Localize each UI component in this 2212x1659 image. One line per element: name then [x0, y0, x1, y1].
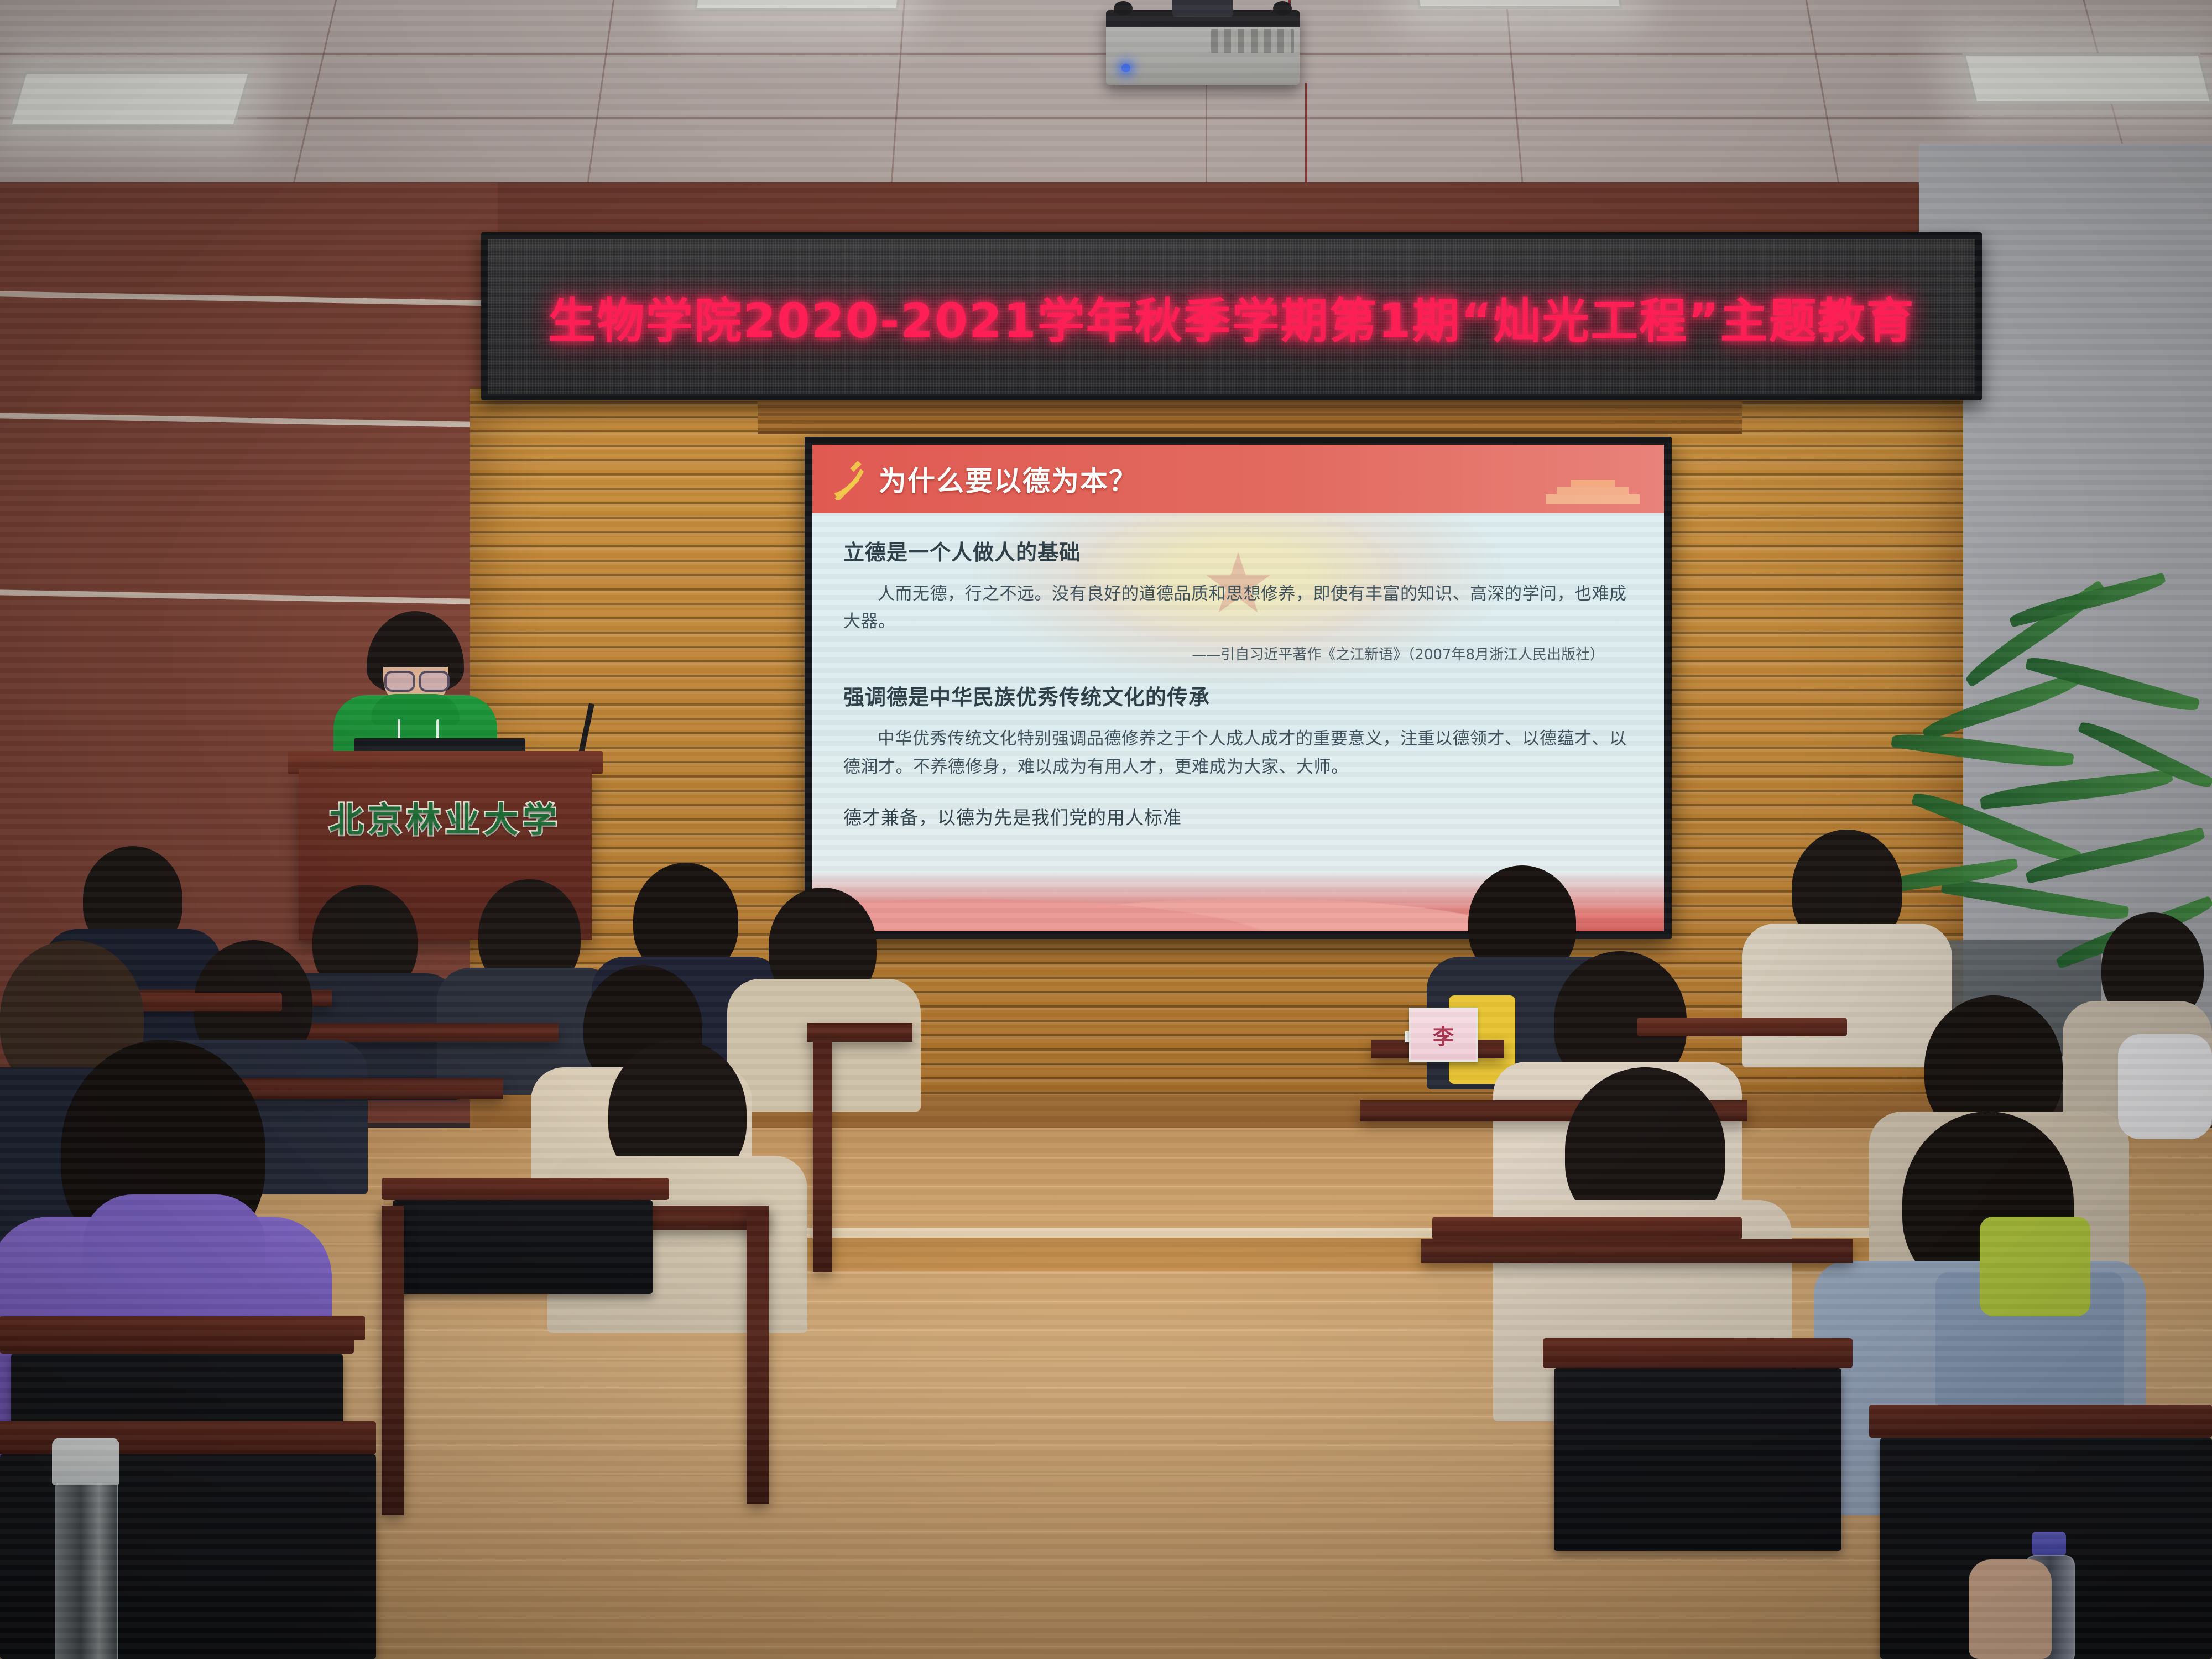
slide-paragraph-1: 人而无德，行之不远。没有良好的道德品质和思想修养，即使有丰富的知识、高深的学问，…: [843, 580, 1633, 635]
desk: [747, 1206, 769, 1504]
chair-seat: [393, 1200, 653, 1294]
led-banner: 生物学院2020-2021学年秋季学期第1期“灿光工程”主题教育: [481, 232, 1982, 400]
chair-frame: [1869, 1405, 2212, 1438]
projector-mount: [1172, 0, 1233, 17]
speaker-bangs: [371, 628, 460, 667]
green-inner-shirt: [1980, 1217, 2090, 1316]
slide-content: 立德是一个人做人的基础 人而无德，行之不远。没有良好的道德品质和思想修养，即使有…: [812, 513, 1664, 830]
chair-frame: [1637, 1018, 1847, 1036]
slide-title-bar: 为什么要以德为本？: [812, 445, 1664, 513]
hood-fold: [83, 1194, 265, 1288]
chair-frame: [1432, 1217, 1742, 1240]
masked-student-head: [2118, 1034, 2212, 1139]
bottle-body: [55, 1483, 118, 1659]
lecture-hall-photo: 生物学院2020-2021学年秋季学期第1期“灿光工程”主题教育 ★ 为什么要以…: [0, 0, 2212, 1659]
desk: [813, 1040, 832, 1272]
name-card: 李: [1409, 1008, 1478, 1062]
thermos-bottle: [50, 1438, 122, 1659]
bottle-cap: [2032, 1532, 2066, 1556]
podium-institution-text: 北京林业大学: [310, 792, 581, 842]
projection-screen: ★ 为什么要以德为本？ 立德是一个人: [805, 437, 1672, 939]
projector: [1106, 10, 1300, 85]
desk: [288, 1023, 559, 1042]
desk: [1421, 1239, 1853, 1263]
name-card-text: 李: [1433, 1020, 1454, 1050]
slide-paragraph-2: 中华优秀传统文化特别强调品德修养之于个人成人成才的重要意义，注重以德领才、以德蕴…: [843, 725, 1633, 780]
bottle-cap: [52, 1438, 119, 1485]
ceiling-light: [1963, 53, 2212, 104]
slide-citation: ——引自习近平著作《之江新语》（2007年8月浙江人民出版社）: [843, 643, 1604, 664]
projector-ports: [1211, 29, 1294, 53]
hammer-and-sickle-icon: [827, 458, 869, 500]
presentation-slide: ★ 为什么要以德为本？ 立德是一个人: [812, 445, 1664, 931]
chair-frame: [1543, 1338, 1853, 1368]
ceiling-light: [8, 71, 251, 127]
desk: [807, 1023, 912, 1042]
tiananmen-icon: [1540, 478, 1645, 505]
desk: [382, 1206, 404, 1515]
ceiling-light: [693, 0, 904, 11]
chair-frame: [382, 1178, 669, 1200]
slide-title: 为什么要以德为本？: [879, 459, 1138, 499]
desk-surface: [0, 1316, 365, 1340]
slide-heading-1: 立德是一个人做人的基础: [843, 535, 1633, 566]
projector-foot: [1273, 1, 1292, 15]
glasses-icon: [419, 671, 450, 692]
slide-heading-2: 强调德是中华民族优秀传统文化的传承: [843, 680, 1633, 711]
chair-seat: [1554, 1368, 1841, 1551]
speaker-hood: [371, 694, 460, 725]
hand-holding-bottle: [1969, 1559, 2052, 1659]
audience-torso: [1742, 924, 1952, 1067]
led-banner-text: 生物学院2020-2021学年秋季学期第1期“灿光工程”主题教育: [548, 282, 1914, 351]
slide-footer-line: 德才兼备，以德为先是我们党的用人标准: [843, 803, 1633, 830]
projector-power-led: [1121, 64, 1130, 72]
ceiling-light: [1413, 0, 1623, 9]
projector-foot: [1114, 1, 1133, 15]
glasses-icon: [384, 671, 415, 692]
